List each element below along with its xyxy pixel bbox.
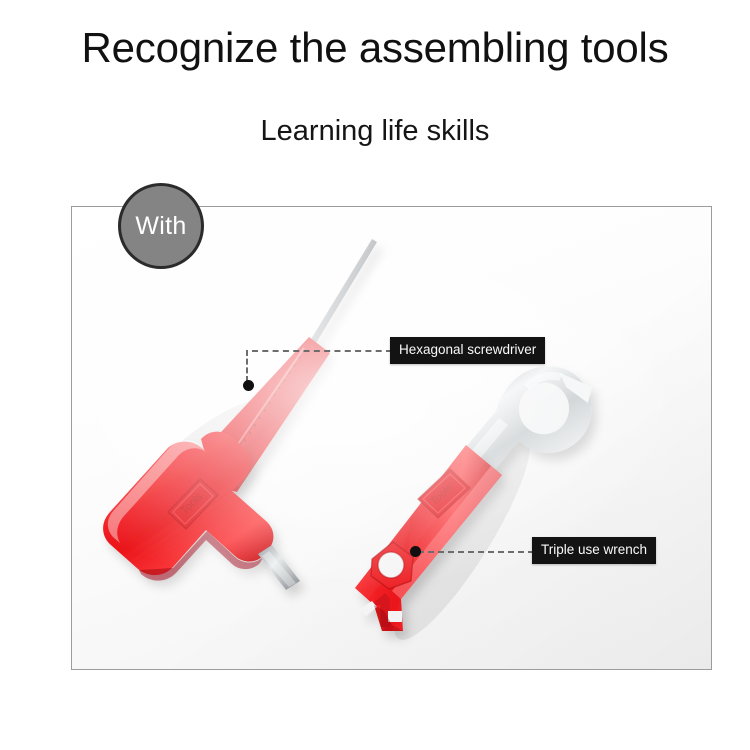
callout-hexagonal-screwdriver: Hexagonal screwdriver [390, 337, 545, 364]
wrench-body-shade [374, 605, 403, 631]
screwdriver-mould-dots [224, 357, 300, 472]
slide-canvas: Recognize the assembling tools Learning … [0, 0, 750, 750]
screwdriver-handle-highlight [108, 440, 206, 543]
tool-hexagonal-screwdriver: Tools [72, 207, 711, 669]
screwdriver-shaft-group [305, 239, 377, 353]
tool-triple-use-wrench: Tools [72, 207, 711, 669]
svg-text:Tools: Tools [428, 481, 455, 508]
wrench-body-edge [392, 466, 502, 599]
screwdriver-hex-bit-highlight [262, 551, 296, 587]
wrench-body-group: Tools [355, 445, 502, 631]
page-title: Recognize the assembling tools [0, 24, 750, 72]
wrench-shadow [375, 420, 550, 653]
screwdriver-body [198, 337, 330, 492]
with-badge: With [118, 183, 204, 269]
wrench-anchor-dot [410, 546, 421, 557]
screwdriver-body-group [198, 337, 330, 492]
screwdriver-handle-group: Tools [103, 432, 273, 581]
screwdriver-body-highlight [222, 337, 330, 488]
with-badge-label: With [135, 212, 186, 241]
wrench-head-highlight [468, 418, 508, 462]
screwdriver-brand-emboss: Tools [168, 479, 218, 529]
product-photo: Tools [72, 207, 711, 669]
wrench-open-end-head [461, 366, 592, 477]
wrench-leader-line [418, 551, 534, 553]
product-photo-frame: Tools [71, 206, 712, 670]
wrench-body-highlight [355, 445, 486, 599]
wrench-jaw-gap [560, 373, 592, 403]
screwdriver-shadow [107, 380, 293, 549]
screwdriver-hex-bit-group [258, 545, 300, 590]
svg-text:Tools: Tools [179, 490, 206, 517]
wrench-body [355, 445, 502, 631]
wrench-jaw-highlight [524, 372, 563, 390]
screwdriver-handle-shade [139, 531, 264, 581]
wrench-hex-socket [371, 542, 413, 589]
callout-triple-use-wrench: Triple use wrench [532, 537, 656, 564]
wrench-head-group [461, 366, 592, 477]
screwdriver-facet-line [214, 348, 304, 479]
screwdriver-steel-shaft [305, 239, 377, 353]
page-subtitle: Learning life skills [0, 113, 750, 149]
wrench-fork-notch [361, 593, 402, 627]
screwdriver-hex-bit [258, 545, 300, 590]
wrench-jaw-bore [519, 383, 569, 434]
screwdriver-anchor-dot [243, 380, 254, 391]
screwdriver-leader-connector [246, 350, 248, 382]
screwdriver-leader-line [252, 350, 392, 352]
wrench-brand-emboss: Tools [418, 469, 470, 518]
screwdriver-t-handle [103, 432, 273, 576]
